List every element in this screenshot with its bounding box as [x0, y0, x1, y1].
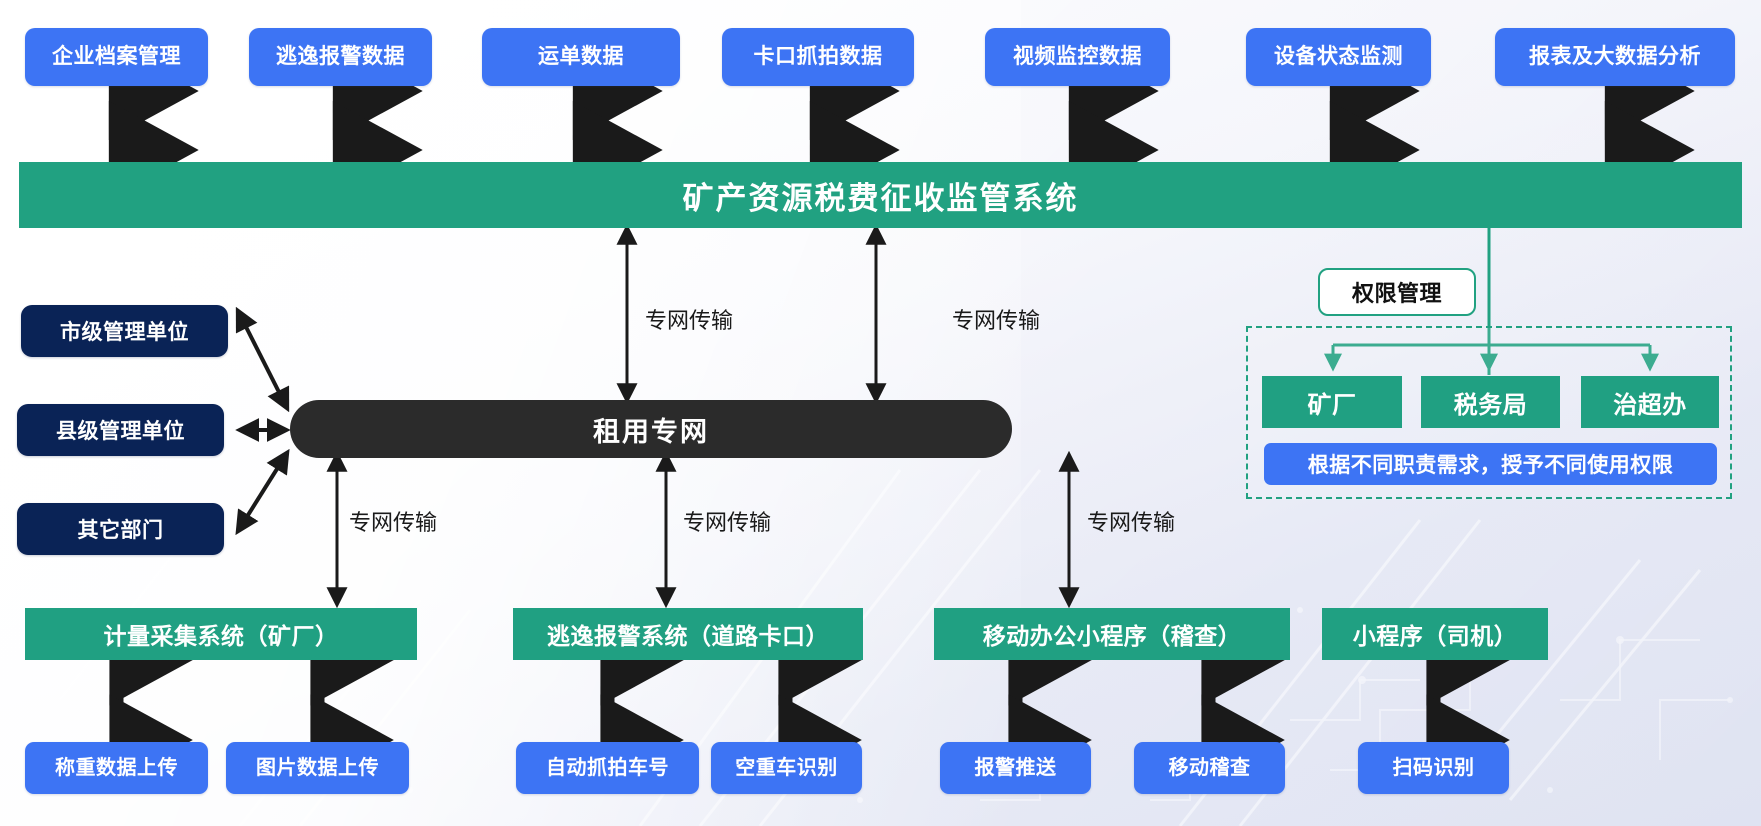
top-module-box[interactable]: 逃逸报警数据 — [249, 28, 432, 86]
permission-role-label: 矿厂 — [1308, 385, 1357, 420]
leaf-box[interactable]: 自动抓拍车号 — [516, 742, 699, 794]
management-unit-label: 县级管理单位 — [56, 415, 185, 445]
leaf-label: 图片数据上传 — [256, 757, 379, 779]
transmission-text: 专网传输 — [952, 308, 1040, 333]
top-module-box[interactable]: 企业档案管理 — [25, 28, 208, 86]
rented-network-label: 租用专网 — [593, 410, 709, 449]
permission-role-label: 税务局 — [1454, 385, 1528, 420]
top-module-box[interactable]: 报表及大数据分析 — [1495, 28, 1735, 86]
top-module-label: 卡口抓拍数据 — [754, 45, 883, 68]
rented-network-bar[interactable]: 租用专网 — [290, 400, 1012, 458]
permission-note-text: 根据不同职责需求，授予不同使用权限 — [1308, 449, 1674, 479]
leaf-box[interactable]: 报警推送 — [940, 742, 1091, 794]
permission-role-box[interactable]: 税务局 — [1421, 376, 1560, 428]
transmission-text: 专网传输 — [1087, 510, 1175, 535]
management-unit-box[interactable]: 其它部门 — [17, 503, 224, 555]
subsystem-label: 移动办公小程序（稽查） — [983, 617, 1242, 651]
top-module-label: 视频监控数据 — [1013, 45, 1142, 68]
transmission-label: 专网传输 — [1087, 505, 1175, 537]
top-module-label: 逃逸报警数据 — [276, 45, 405, 68]
leaf-box[interactable]: 空重车识别 — [711, 742, 862, 794]
management-unit-label: 其它部门 — [78, 514, 164, 544]
transmission-label: 专网传输 — [645, 303, 733, 335]
leaf-label: 自动抓拍车号 — [546, 757, 669, 779]
transmission-text: 专网传输 — [349, 510, 437, 535]
top-module-box[interactable]: 卡口抓拍数据 — [722, 28, 914, 86]
subsystem-box[interactable]: 小程序（司机） — [1322, 608, 1548, 660]
top-module-label: 企业档案管理 — [52, 45, 181, 68]
management-unit-label: 市级管理单位 — [60, 316, 189, 346]
transmission-label: 专网传输 — [952, 303, 1040, 335]
top-module-box[interactable]: 设备状态监测 — [1246, 28, 1431, 86]
top-module-box[interactable]: 视频监控数据 — [985, 28, 1170, 86]
permission-label-text: 权限管理 — [1352, 276, 1442, 308]
subsystem-label: 逃逸报警系统（道路卡口） — [547, 617, 829, 651]
subsystem-label: 小程序（司机） — [1353, 617, 1518, 651]
leaf-box[interactable]: 称重数据上传 — [25, 742, 208, 794]
leaf-box[interactable]: 移动稽查 — [1134, 742, 1285, 794]
transmission-text: 专网传输 — [645, 308, 733, 333]
top-module-box[interactable]: 运单数据 — [482, 28, 680, 86]
transmission-label: 专网传输 — [349, 505, 437, 537]
subsystem-box[interactable]: 逃逸报警系统（道路卡口） — [513, 608, 863, 660]
permission-note: 根据不同职责需求，授予不同使用权限 — [1264, 443, 1717, 485]
leaf-label: 报警推送 — [975, 757, 1057, 779]
subsystem-box[interactable]: 计量采集系统（矿厂） — [25, 608, 417, 660]
transmission-label: 专网传输 — [683, 505, 771, 537]
subsystem-box[interactable]: 移动办公小程序（稽查） — [934, 608, 1290, 660]
top-module-label: 运单数据 — [538, 45, 624, 68]
top-module-label: 报表及大数据分析 — [1529, 45, 1701, 68]
transmission-text: 专网传输 — [683, 510, 771, 535]
main-system-title: 矿产资源税费征收监管系统 — [683, 173, 1079, 218]
leaf-label: 移动稽查 — [1169, 757, 1251, 779]
management-unit-box[interactable]: 县级管理单位 — [17, 404, 224, 456]
subsystem-label: 计量采集系统（矿厂） — [104, 617, 339, 651]
permission-group-label[interactable]: 权限管理 — [1318, 268, 1476, 316]
main-system-bar[interactable]: 矿产资源税费征收监管系统 — [19, 162, 1742, 228]
top-module-label: 设备状态监测 — [1274, 45, 1403, 68]
leaf-box[interactable]: 扫码识别 — [1358, 742, 1509, 794]
leaf-box[interactable]: 图片数据上传 — [226, 742, 409, 794]
permission-role-box[interactable]: 矿厂 — [1262, 376, 1402, 428]
diagram-canvas: 企业档案管理 逃逸报警数据 运单数据 卡口抓拍数据 视频监控数据 设备状态监测 … — [0, 0, 1761, 826]
leaf-label: 扫码识别 — [1393, 757, 1475, 779]
permission-role-label: 治超办 — [1613, 385, 1687, 420]
leaf-label: 空重车识别 — [735, 757, 838, 779]
leaf-label: 称重数据上传 — [55, 757, 178, 779]
management-unit-box[interactable]: 市级管理单位 — [21, 305, 228, 357]
permission-role-box[interactable]: 治超办 — [1581, 376, 1719, 428]
